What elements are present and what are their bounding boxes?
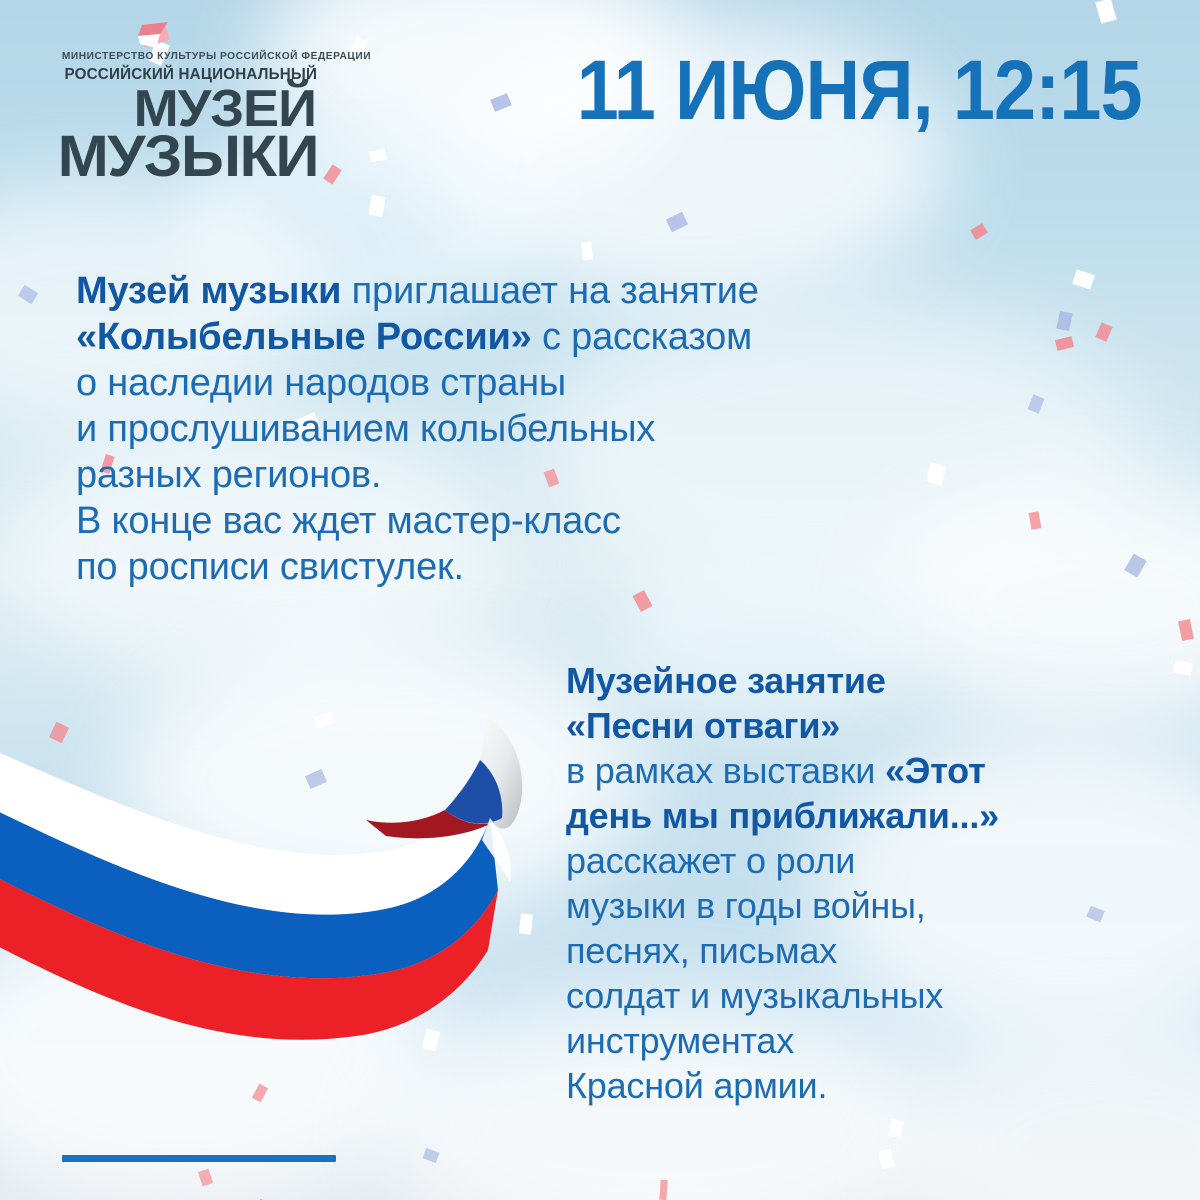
text-line: Музейное занятие [566, 658, 999, 703]
text-line: расскажет о роли [566, 838, 999, 883]
text-run-bold: «Колыбельные России» [76, 316, 532, 358]
text-run-bold: Музейное занятие [566, 660, 886, 701]
logo-word-muzyki: МУЗЫКИ [42, 130, 318, 183]
text-run-bold: «Песни отваги» [566, 705, 840, 746]
text-line: солдат и музыкальных [566, 973, 999, 1018]
confetti-piece [1095, 0, 1116, 24]
confetti-piece [581, 242, 593, 261]
text-run-bold: «Этот [885, 750, 986, 791]
confetti-piece [970, 223, 988, 240]
text-run: разных регионов. [76, 454, 381, 496]
museum-logo[interactable]: МИНИСТЕРСТВО КУЛЬТУРЫ РОССИЙСКОЙ ФЕДЕРАЦ… [58, 50, 318, 183]
text-run-bold: день мы приближали...» [566, 795, 999, 836]
event-date-headline: 11 ИЮНЯ, 12:15 [577, 48, 1142, 132]
text-line: Красной армии. [566, 1063, 999, 1108]
text-line: день мы приближали...» [566, 793, 999, 838]
text-line: о наследии народов страны [76, 360, 759, 406]
text-run: в рамках выставки [566, 750, 885, 791]
logo-ministry-line: МИНИСТЕРСТВО КУЛЬТУРЫ РОССИЙСКОЙ ФЕДЕРАЦ… [62, 50, 314, 62]
text-line: музыки в годы войны, [566, 883, 999, 928]
confetti-piece [1072, 269, 1095, 289]
text-run: солдат и музыкальных [566, 975, 943, 1016]
text-line: песнях, письмах [566, 928, 999, 973]
text-line: В конце вас ждет мастер-класс [76, 498, 759, 544]
text-run: приглашает на занятие [341, 270, 758, 312]
text-run: и прослушиванием колыбельных [76, 408, 655, 450]
text-run: по росписи свистулек. [76, 546, 464, 588]
lullabies-description-block: Музей музыки приглашает на занятие«Колыб… [76, 268, 759, 590]
bottom-accent-rule [62, 1155, 336, 1162]
logo-flag-mark-icon [138, 22, 178, 50]
text-run: с рассказом [532, 316, 752, 358]
text-line: инструментах [566, 1018, 999, 1063]
confetti-piece [659, 1180, 667, 1200]
text-run: инструментах [566, 1020, 794, 1061]
text-run: о наследии народов страны [76, 362, 566, 404]
text-run: расскажет о роли [566, 840, 855, 881]
text-run: Красной армии. [566, 1065, 827, 1106]
text-line: в рамках выставки «Этот [566, 748, 999, 793]
songs-description-block: Музейное занятие«Песни отваги»в рамках в… [566, 658, 999, 1108]
text-line: и прослушиванием колыбельных [76, 406, 759, 452]
text-line: разных регионов. [76, 452, 759, 498]
text-line: «Колыбельные России» с рассказом [76, 314, 759, 360]
text-run: музыки в годы войны, [566, 885, 926, 926]
text-run: В конце вас ждет мастер-класс [76, 500, 621, 542]
text-line: «Песни отваги» [566, 703, 999, 748]
logo-wordmark: МУЗЕЙ МУЗЫКИ [58, 86, 318, 183]
confetti-piece [1055, 336, 1074, 351]
poster-canvas: МИНИСТЕРСТВО КУЛЬТУРЫ РОССИЙСКОЙ ФЕДЕРАЦ… [0, 0, 1200, 1200]
confetti-piece [1095, 322, 1112, 341]
text-line: Музей музыки приглашает на занятие [76, 268, 759, 314]
russian-flag-ribbon [0, 700, 550, 1060]
text-run-bold: Музей музыки [76, 270, 341, 312]
text-line: по росписи свистулек. [76, 544, 759, 590]
confetti-piece [1056, 311, 1072, 331]
text-run: песнях, письмах [566, 930, 837, 971]
confetti-piece [1173, 661, 1192, 675]
